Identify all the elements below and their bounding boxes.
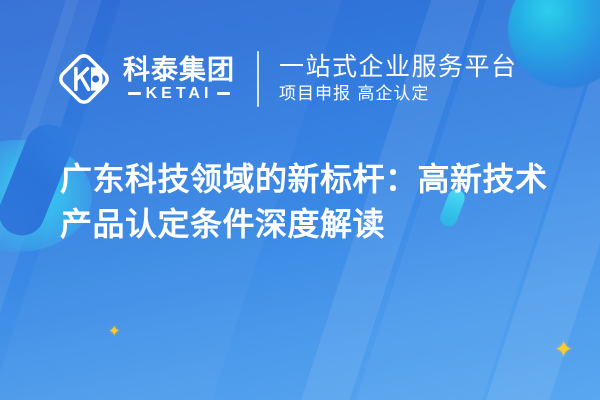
brand-logo[interactable]: 科泰集团 KETAI — [55, 50, 235, 108]
sparkle-star-large-icon: ✦ — [554, 338, 573, 361]
page-title: 广东科技领域的新标杆：高新技术产品认定条件深度解读 — [60, 157, 570, 248]
logo-dash-right-icon — [217, 92, 230, 95]
header-divider — [257, 51, 259, 107]
brand-wordmark: 科泰集团 KETAI — [123, 57, 235, 102]
tagline-sub: 项目申报 高企认定 — [279, 86, 518, 104]
ketai-diamond-kd-logo-icon — [55, 50, 113, 108]
brand-name-en-row: KETAI — [123, 86, 235, 102]
brand-name-en: KETAI — [146, 86, 213, 102]
promo-banner: ✦ ✦ 科泰集团 KETAI — [0, 0, 600, 400]
sparkle-star-small-icon: ✦ — [108, 324, 121, 339]
logo-dash-left-icon — [128, 92, 141, 95]
logo-d-counter — [92, 76, 99, 83]
banner-header: 科泰集团 KETAI 一站式企业服务平台 项目申报 高企认定 — [0, 38, 600, 120]
tagline-block: 一站式企业服务平台 项目申报 高企认定 — [279, 54, 518, 103]
tagline-main: 一站式企业服务平台 — [279, 54, 518, 80]
brand-name-cn: 科泰集团 — [123, 57, 235, 84]
